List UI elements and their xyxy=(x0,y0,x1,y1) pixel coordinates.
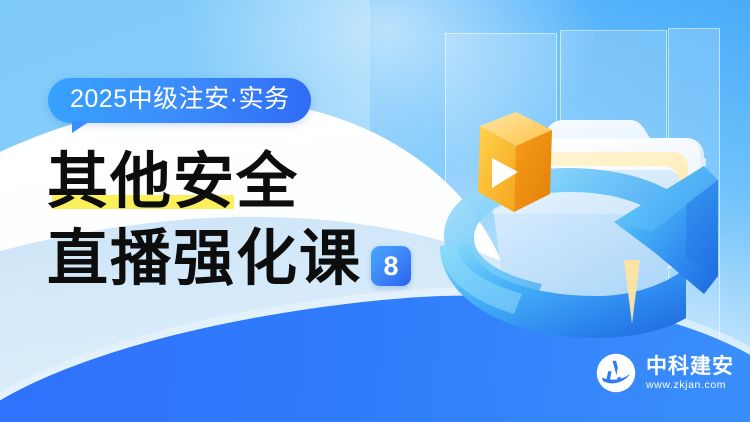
episode-badge: 8 xyxy=(371,246,411,286)
course-category-label: 2025中级注安·实务 xyxy=(70,85,289,113)
headline-text-2: 直播强化课 xyxy=(47,229,362,290)
zkjan-logo-icon xyxy=(595,352,637,394)
brand-logo: 中科建安 www.zkjan.com xyxy=(595,352,734,394)
course-illustration xyxy=(418,8,750,348)
course-category-pill: 2025中级注安·实务 xyxy=(48,78,311,123)
headline-line-2: 直播强化课 8 xyxy=(47,229,411,290)
brand-url: www.zkjan.com xyxy=(646,380,734,391)
headline-block: 其他安全 直播强化课 8 xyxy=(47,152,411,290)
video-cube-icon xyxy=(478,112,552,212)
headline-text-1: 其他安全 xyxy=(47,152,299,213)
brand-text: 中科建安 www.zkjan.com xyxy=(646,356,734,391)
brand-name-cn: 中科建安 xyxy=(646,356,734,377)
pill-tail xyxy=(72,121,90,133)
headline-line-1: 其他安全 xyxy=(47,152,411,213)
course-banner: 2025中级注安·实务 其他安全 直播强化课 8 中科建安 www.zkjan.… xyxy=(0,0,750,422)
